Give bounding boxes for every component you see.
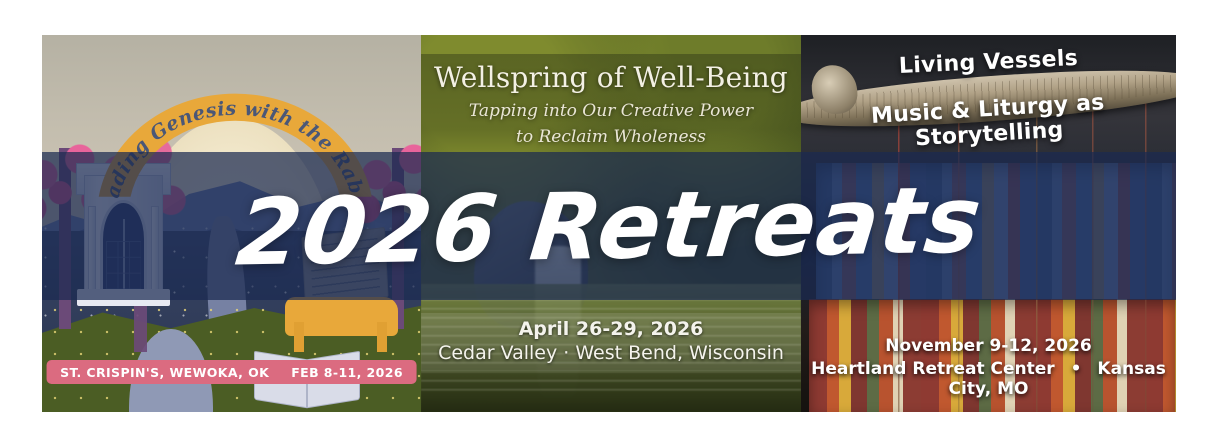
panel3-caption-location: Heartland Retreat Center • Kansas City, … xyxy=(801,359,1176,399)
retreats-banner-graphic: Reading Genesis with the Rabbis ST. CRIS… xyxy=(0,0,1220,436)
panel2-caption-dates: April 26-29, 2026 xyxy=(421,318,801,340)
panel2-subtitle-line1: Tapping into Our Creative Power xyxy=(421,101,801,121)
panel3-caption: November 9-12, 2026 Heartland Retreat Ce… xyxy=(801,336,1176,399)
panel3-title-block: Living Vessels Music & Liturgy as Storyt… xyxy=(801,50,1176,147)
svg-text:Reading Genesis with the Rabbi: Reading Genesis with the Rabbis xyxy=(86,36,369,200)
caption-separator-dot: • xyxy=(1071,359,1082,379)
panel3-caption-venue: Heartland Retreat Center xyxy=(811,359,1055,379)
panel2-title-block: Wellspring of Well-Being Tapping into Ou… xyxy=(421,54,801,161)
panel2-title: Wellspring of Well-Being xyxy=(421,62,801,94)
retreat-collage: Reading Genesis with the Rabbis ST. CRIS… xyxy=(42,35,1176,412)
panel2-caption-location: Cedar Valley · West Bend, Wisconsin xyxy=(421,342,801,364)
arch-title-ribbon: Reading Genesis with the Rabbis xyxy=(95,39,375,220)
arch-title-text: Reading Genesis with the Rabbis xyxy=(86,36,369,200)
panel-wellspring[interactable]: Wellspring of Well-Being Tapping into Ou… xyxy=(421,35,801,412)
panel1-caption-dates: FEB 8-11, 2026 xyxy=(291,365,403,380)
panel-reading-genesis[interactable]: Reading Genesis with the Rabbis ST. CRIS… xyxy=(42,35,421,412)
panel1-caption-location: ST. CRISPIN'S, WEWOKA, OK xyxy=(60,365,269,380)
panel1-caption: ST. CRISPIN'S, WEWOKA, OK FEB 8-11, 2026 xyxy=(46,360,417,384)
panel-living-vessels[interactable]: Living Vessels Music & Liturgy as Storyt… xyxy=(801,35,1176,412)
panel2-caption: April 26-29, 2026 Cedar Valley · West Be… xyxy=(421,313,801,371)
panel2-subtitle-line2: to Reclaim Wholeness xyxy=(421,127,801,147)
panel3-caption-dates: November 9-12, 2026 xyxy=(801,336,1176,356)
lectern-with-scroll-icon xyxy=(285,239,399,352)
